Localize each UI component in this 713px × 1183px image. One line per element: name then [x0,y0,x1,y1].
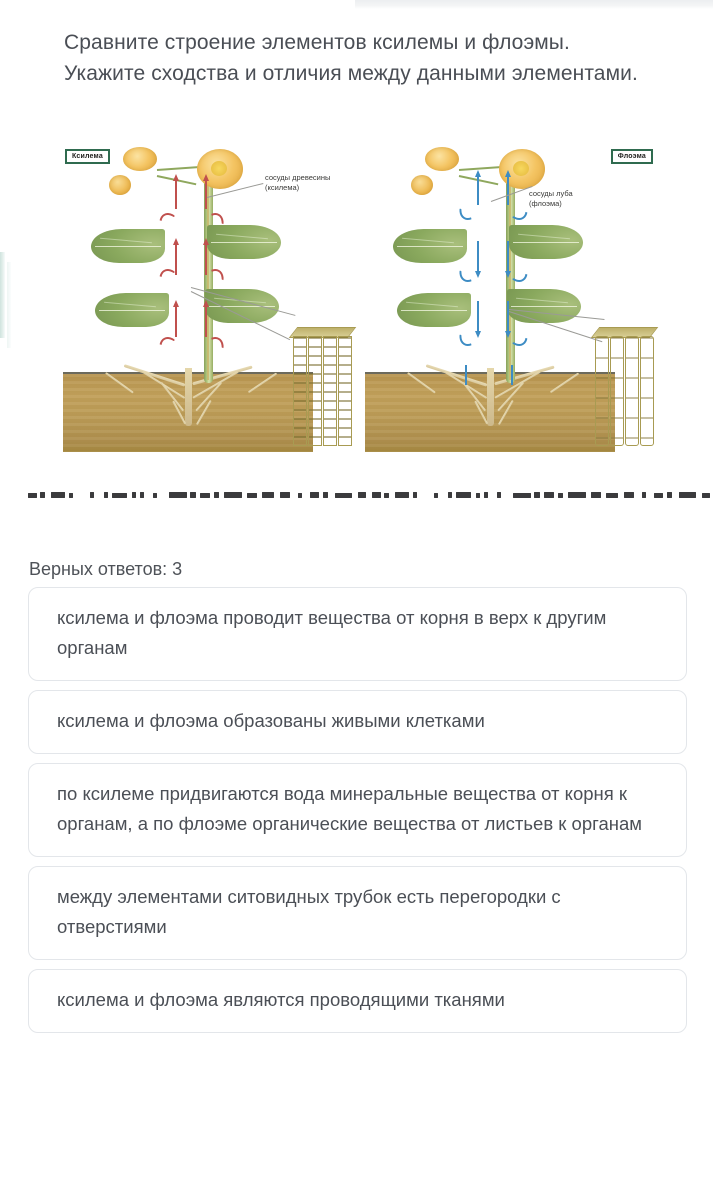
top-decorative-band [355,0,713,9]
redacted-block [456,492,471,498]
redacted-block [413,492,417,498]
redacted-block [104,492,108,498]
leaf [95,293,169,327]
redacted-block [679,492,696,498]
answer-option[interactable]: ксилема и флоэма образованы живыми клетк… [28,690,687,754]
redacted-block [395,492,409,498]
flower-bloom [499,149,545,189]
redacted-block [434,493,438,498]
redacted-block [606,493,618,498]
redacted-block [558,493,563,498]
redacted-block [497,492,501,498]
left-edge-accent-sliver [0,252,5,338]
redacted-text-strip [28,492,688,501]
root-branch [407,372,436,394]
redacted-block [484,492,488,498]
question-prompt: Сравните строение элементов ксилемы и фл… [64,27,639,89]
redacted-block [69,493,73,498]
redacted-block [90,492,94,498]
redacted-block [169,492,187,498]
flower-bloom [197,149,243,189]
panel-tag-phloem: Флоэма [611,149,653,164]
leaf [393,229,467,263]
redacted-block [476,493,480,498]
redacted-block [624,492,634,498]
root-branch [196,400,212,425]
root-branch [248,372,277,393]
left-edge-accent-sliver-secondary [7,262,11,348]
redacted-block [132,492,136,498]
redacted-block [153,493,157,498]
redacted-block [358,492,366,498]
redacted-block [262,492,274,498]
redacted-block [591,492,601,498]
redacted-block [28,493,37,498]
root-system [365,368,615,452]
leaf [91,229,165,263]
root-branch [192,365,252,385]
flower-bud [425,147,459,171]
redacted-block [112,493,127,498]
answer-option[interactable]: ксилема и флоэма проводит вещества от ко… [28,587,687,681]
callout-line-2: (ксилема) [265,183,330,193]
redacted-block [372,492,381,498]
callout-phloem: сосуды луба (флоэма) [529,189,573,209]
root-branch [550,372,579,393]
redacted-block [513,493,531,498]
redacted-block [224,492,242,498]
root-branch [494,365,554,385]
flower-bud [123,147,157,171]
redacted-block [51,492,65,498]
root-system [63,368,313,452]
redacted-block [200,493,210,498]
redacted-block [534,492,540,498]
leaf [397,293,471,327]
redacted-block [448,492,452,498]
redacted-block [667,492,672,498]
callout-line-1: сосуды луба [529,189,573,199]
flower-bud [411,175,433,195]
redacted-block [298,493,302,498]
redacted-block [310,492,319,498]
redacted-block [280,492,290,498]
root-branch [124,364,186,387]
redacted-block [544,492,554,498]
redacted-block [642,492,646,498]
redacted-block [140,492,144,498]
answer-options-list: ксилема и флоэма проводит вещества от ко… [28,587,687,1042]
leaf [507,289,581,323]
callout-line-1: сосуды древесины [265,173,330,183]
root-branch [498,400,514,425]
correct-answers-count: Верных ответов: 3 [29,559,182,580]
magnified-phloem-sieve-tubes [595,336,657,446]
redacted-block [654,493,663,498]
flower-bud [109,175,131,195]
redacted-block [247,493,257,498]
redacted-block [40,492,45,498]
redacted-block [190,492,196,498]
illustration-panel-phloem: Флоэма [359,141,661,452]
redacted-block [568,492,586,498]
answer-option[interactable]: между элементами ситовидных трубок есть … [28,866,687,960]
redacted-block [214,492,219,498]
redacted-block [702,493,710,498]
callout-line-2: (флоэма) [529,199,573,209]
root-branch [426,364,488,387]
taproot [185,368,192,426]
taproot [487,368,494,426]
xylem-phloem-illustration: Ксилема [57,141,661,452]
answer-option[interactable]: по ксилеме придвигаются вода минеральные… [28,763,687,857]
redacted-block [323,492,328,498]
magnified-xylem-vessels [293,336,355,446]
root-branch [105,372,134,394]
redacted-block [384,493,389,498]
illustration-panel-xylem: Ксилема [57,141,359,452]
callout-xylem: сосуды древесины (ксилема) [265,173,330,193]
redacted-block [335,493,352,498]
answer-option[interactable]: ксилема и флоэма являются проводящими тк… [28,969,687,1033]
leaf [509,225,583,259]
panel-tag-xylem: Ксилема [65,149,110,164]
